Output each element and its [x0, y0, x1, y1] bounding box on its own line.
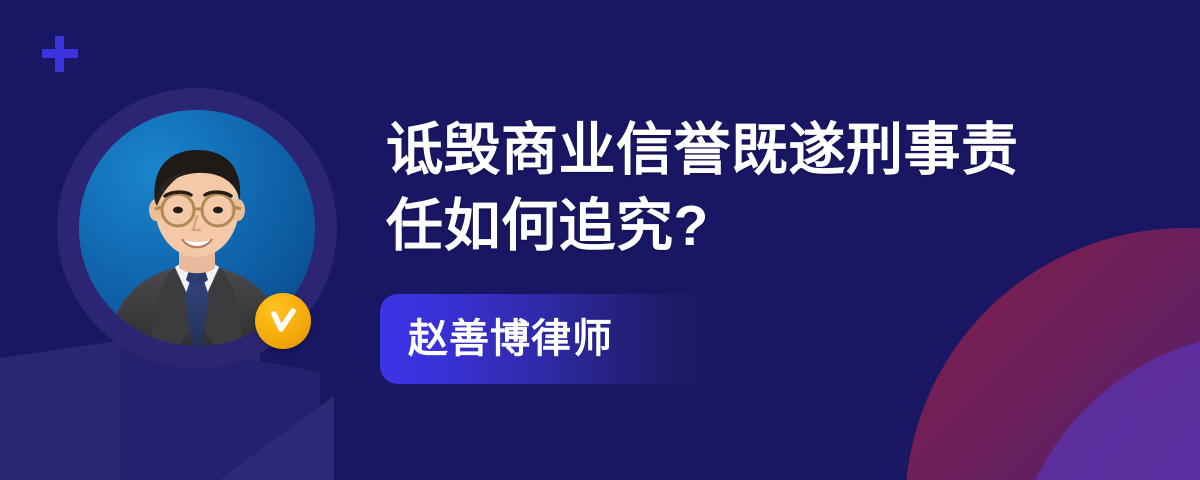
verified-check-icon: [255, 293, 311, 349]
headline-block: 诋毁商业信誉既遂刑事责 任如何追究?: [386, 112, 1146, 264]
lawyer-qa-banner: 诋毁商业信誉既遂刑事责 任如何追究? 赵善博律师: [0, 0, 1200, 480]
page-title: 诋毁商业信誉既遂刑事责 任如何追究?: [386, 112, 1146, 264]
plus-icon: [42, 36, 78, 72]
avatar: [57, 88, 337, 368]
lawyer-name-label: 赵善博律师: [408, 319, 613, 359]
lawyer-name-button[interactable]: 赵善博律师: [380, 294, 716, 384]
